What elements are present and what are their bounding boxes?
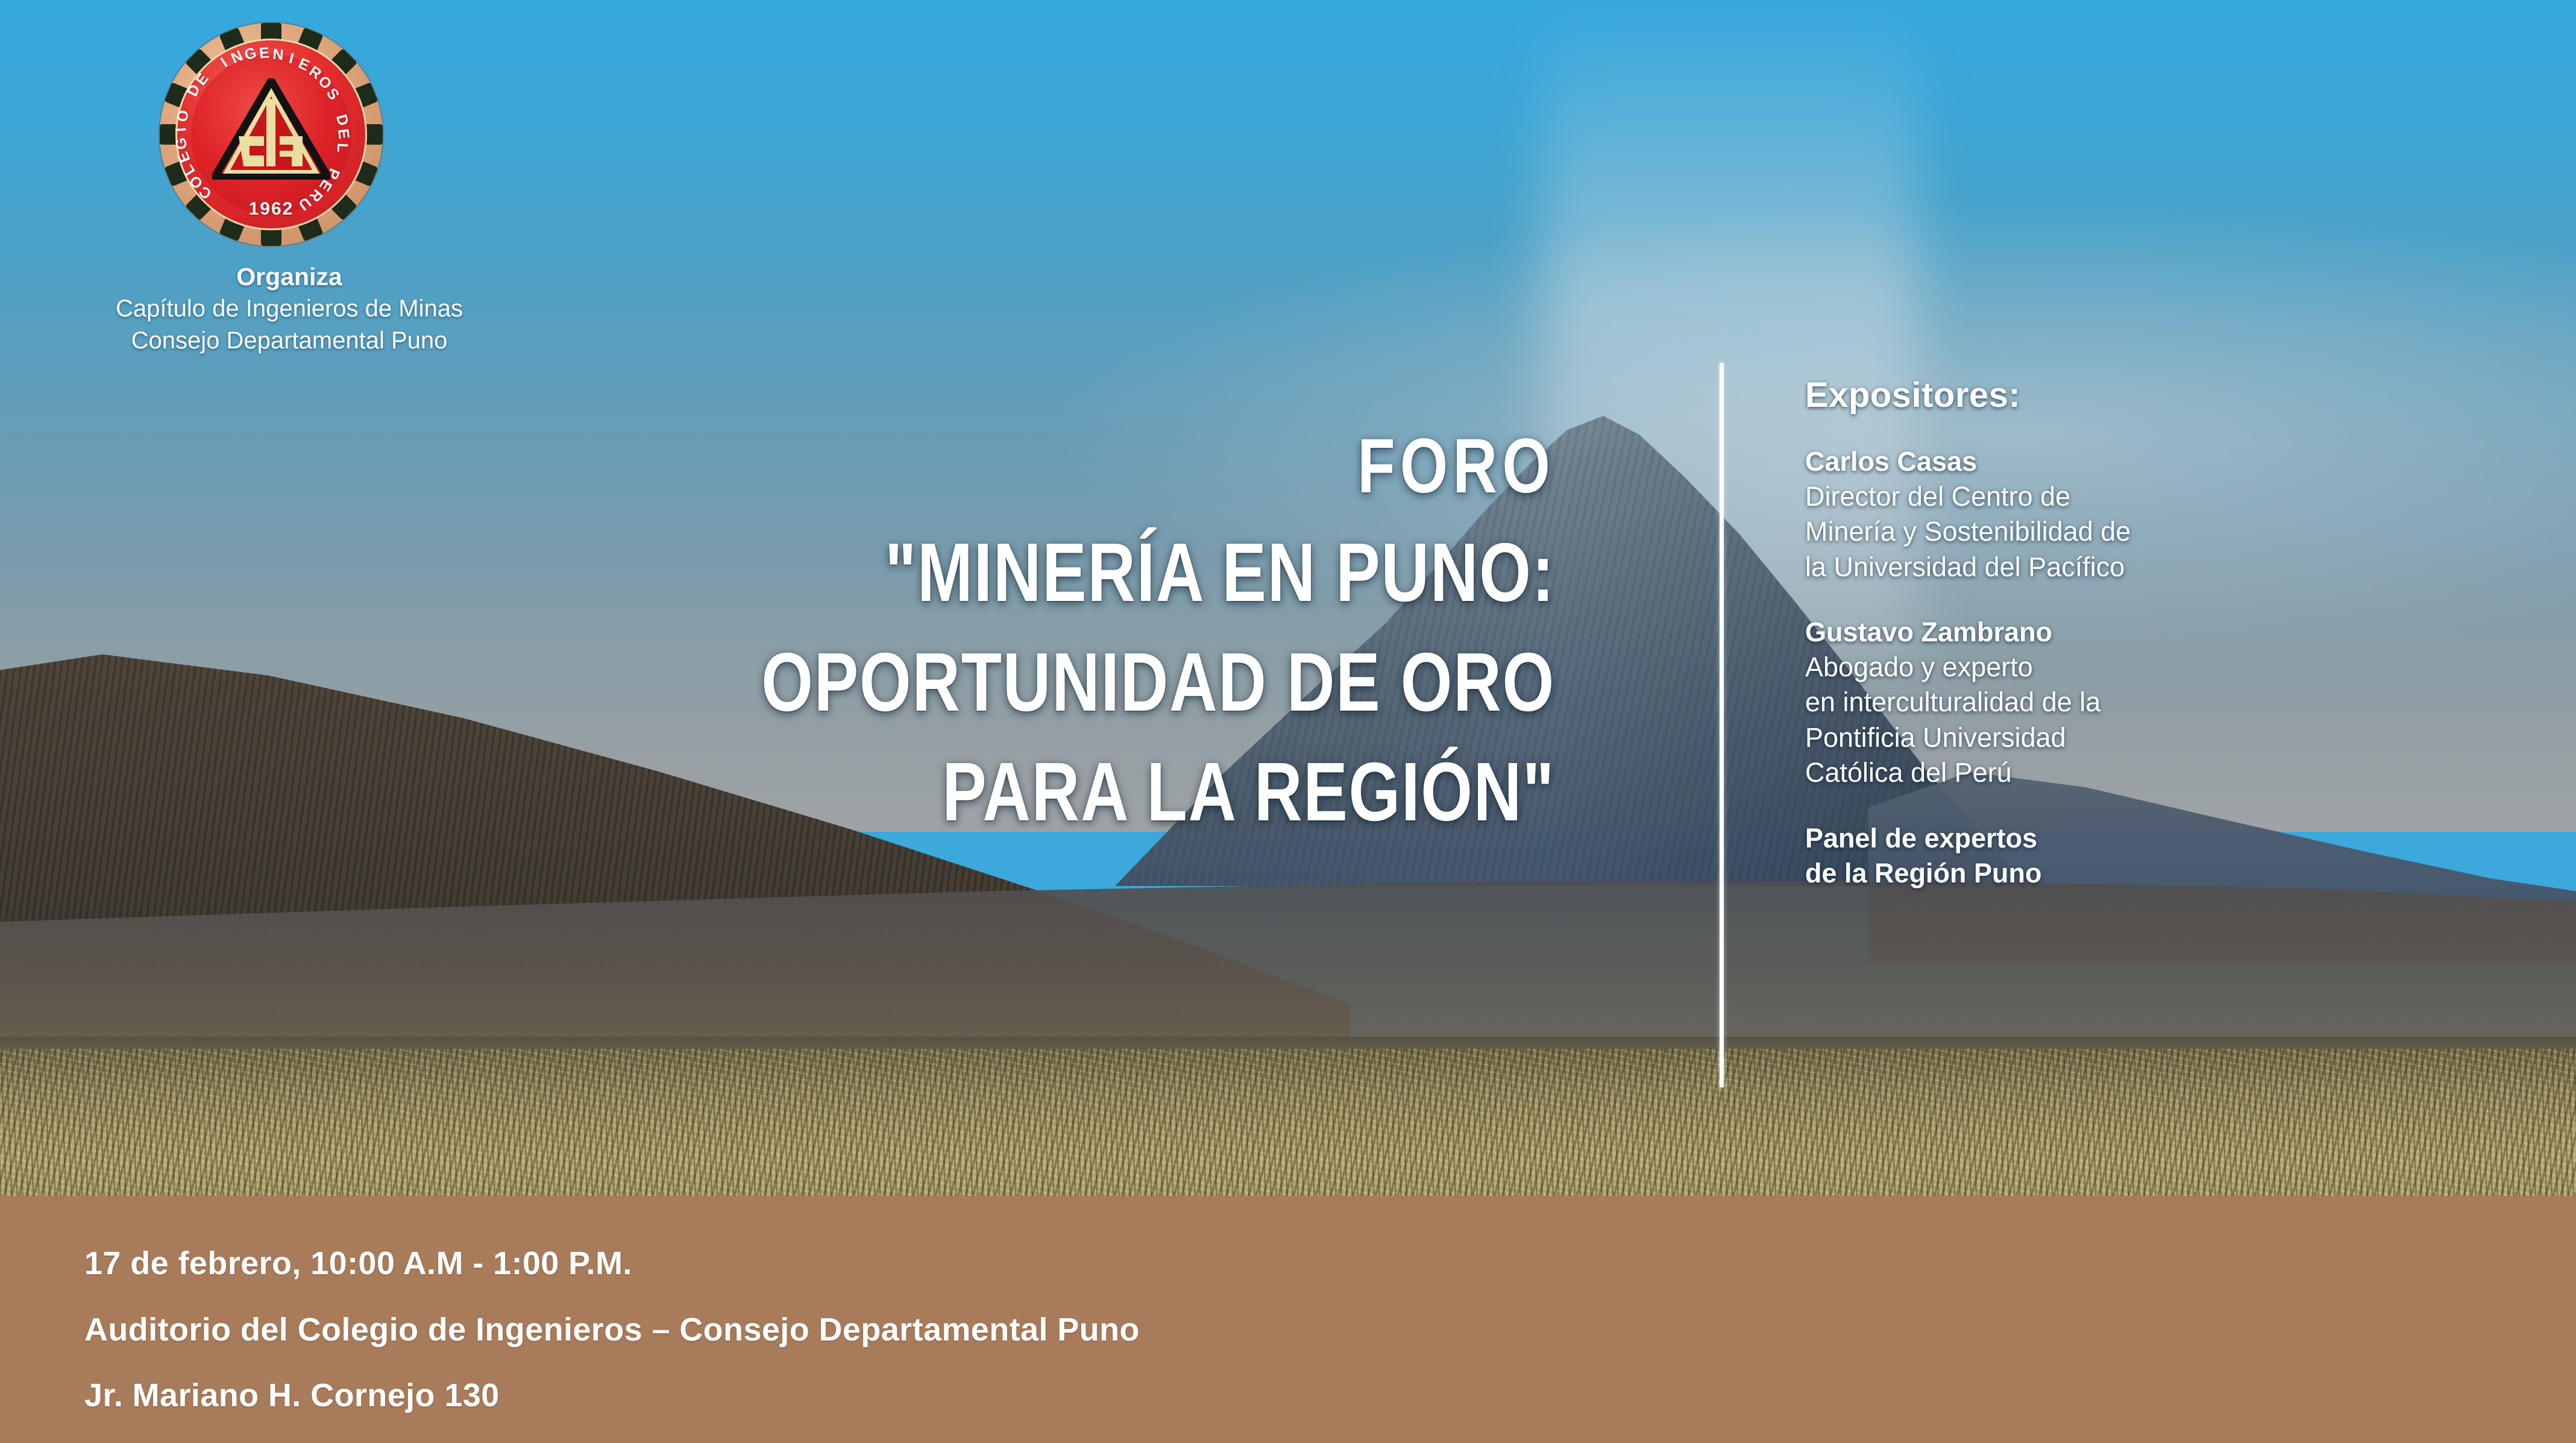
footer-date-time: 17 de febrero, 10:00 A.M - 1:00 P.M. bbox=[84, 1231, 1140, 1297]
foreground-grassland bbox=[0, 1049, 2576, 1199]
organizer-chapter: Capítulo de Ingenieros de Minas bbox=[36, 293, 542, 325]
title-line-2: "MINERÍA EN PUNO: bbox=[456, 518, 1555, 627]
vertical-divider bbox=[1720, 363, 1724, 1087]
title-line-4: PARA LA REGIÓN" bbox=[456, 737, 1555, 847]
speaker-role-line: Pontificia Universidad bbox=[1805, 720, 2348, 756]
panel-note-line: Panel de expertos bbox=[1805, 821, 2348, 857]
panel-note-line: de la Región Puno bbox=[1805, 856, 2348, 891]
speaker-role-line: la Universidad del Pacífico bbox=[1805, 550, 2348, 585]
speaker-role-line: Abogado y experto bbox=[1805, 650, 2348, 685]
event-poster: COLEGIO DE INGENIEROS DEL PERU 1962 Orga… bbox=[0, 0, 2576, 1443]
page-title: FORO "MINERÍA EN PUNO: OPORTUNIDAD DE OR… bbox=[181, 416, 1555, 847]
seal-year: 1962 bbox=[160, 199, 383, 219]
organizer-block: Organiza Capítulo de Ingenieros de Minas… bbox=[36, 260, 542, 357]
footer-venue: Auditorio del Colegio de Ingenieros – Co… bbox=[84, 1297, 1140, 1363]
footer-address: Jr. Mariano H. Cornejo 130 bbox=[84, 1363, 1140, 1429]
speaker-role-line: Minería y Sostenibilidad de bbox=[1805, 514, 2348, 550]
organizer-label: Organiza bbox=[36, 260, 542, 293]
speakers-heading: Expositores: bbox=[1805, 375, 2348, 415]
speaker-name: Carlos Casas bbox=[1805, 444, 2348, 479]
speaker-name: Gustavo Zambrano bbox=[1805, 615, 2348, 650]
speaker-role-line: Católica del Perú bbox=[1805, 755, 2348, 791]
title-line-3: OPORTUNIDAD DE ORO bbox=[456, 627, 1555, 737]
cip-triangle-monogram-icon bbox=[212, 78, 330, 180]
title-line-foro: FORO bbox=[456, 416, 1555, 518]
speaker-role-line: en interculturalidad de la bbox=[1805, 685, 2348, 720]
speaker-item: Gustavo Zambrano Abogado y experto en in… bbox=[1805, 615, 2348, 791]
cip-logo: COLEGIO DE INGENIEROS DEL PERU 1962 bbox=[160, 23, 383, 246]
speaker-role-line: Director del Centro de bbox=[1805, 479, 2348, 515]
speaker-item: Carlos Casas Director del Centro de Mine… bbox=[1805, 444, 2348, 585]
footer-details: 17 de febrero, 10:00 A.M - 1:00 P.M. Aud… bbox=[84, 1231, 1140, 1429]
speakers-panel: Expositores: Carlos Casas Director del C… bbox=[1805, 375, 2348, 891]
organizer-council: Consejo Departamental Puno bbox=[36, 325, 542, 357]
